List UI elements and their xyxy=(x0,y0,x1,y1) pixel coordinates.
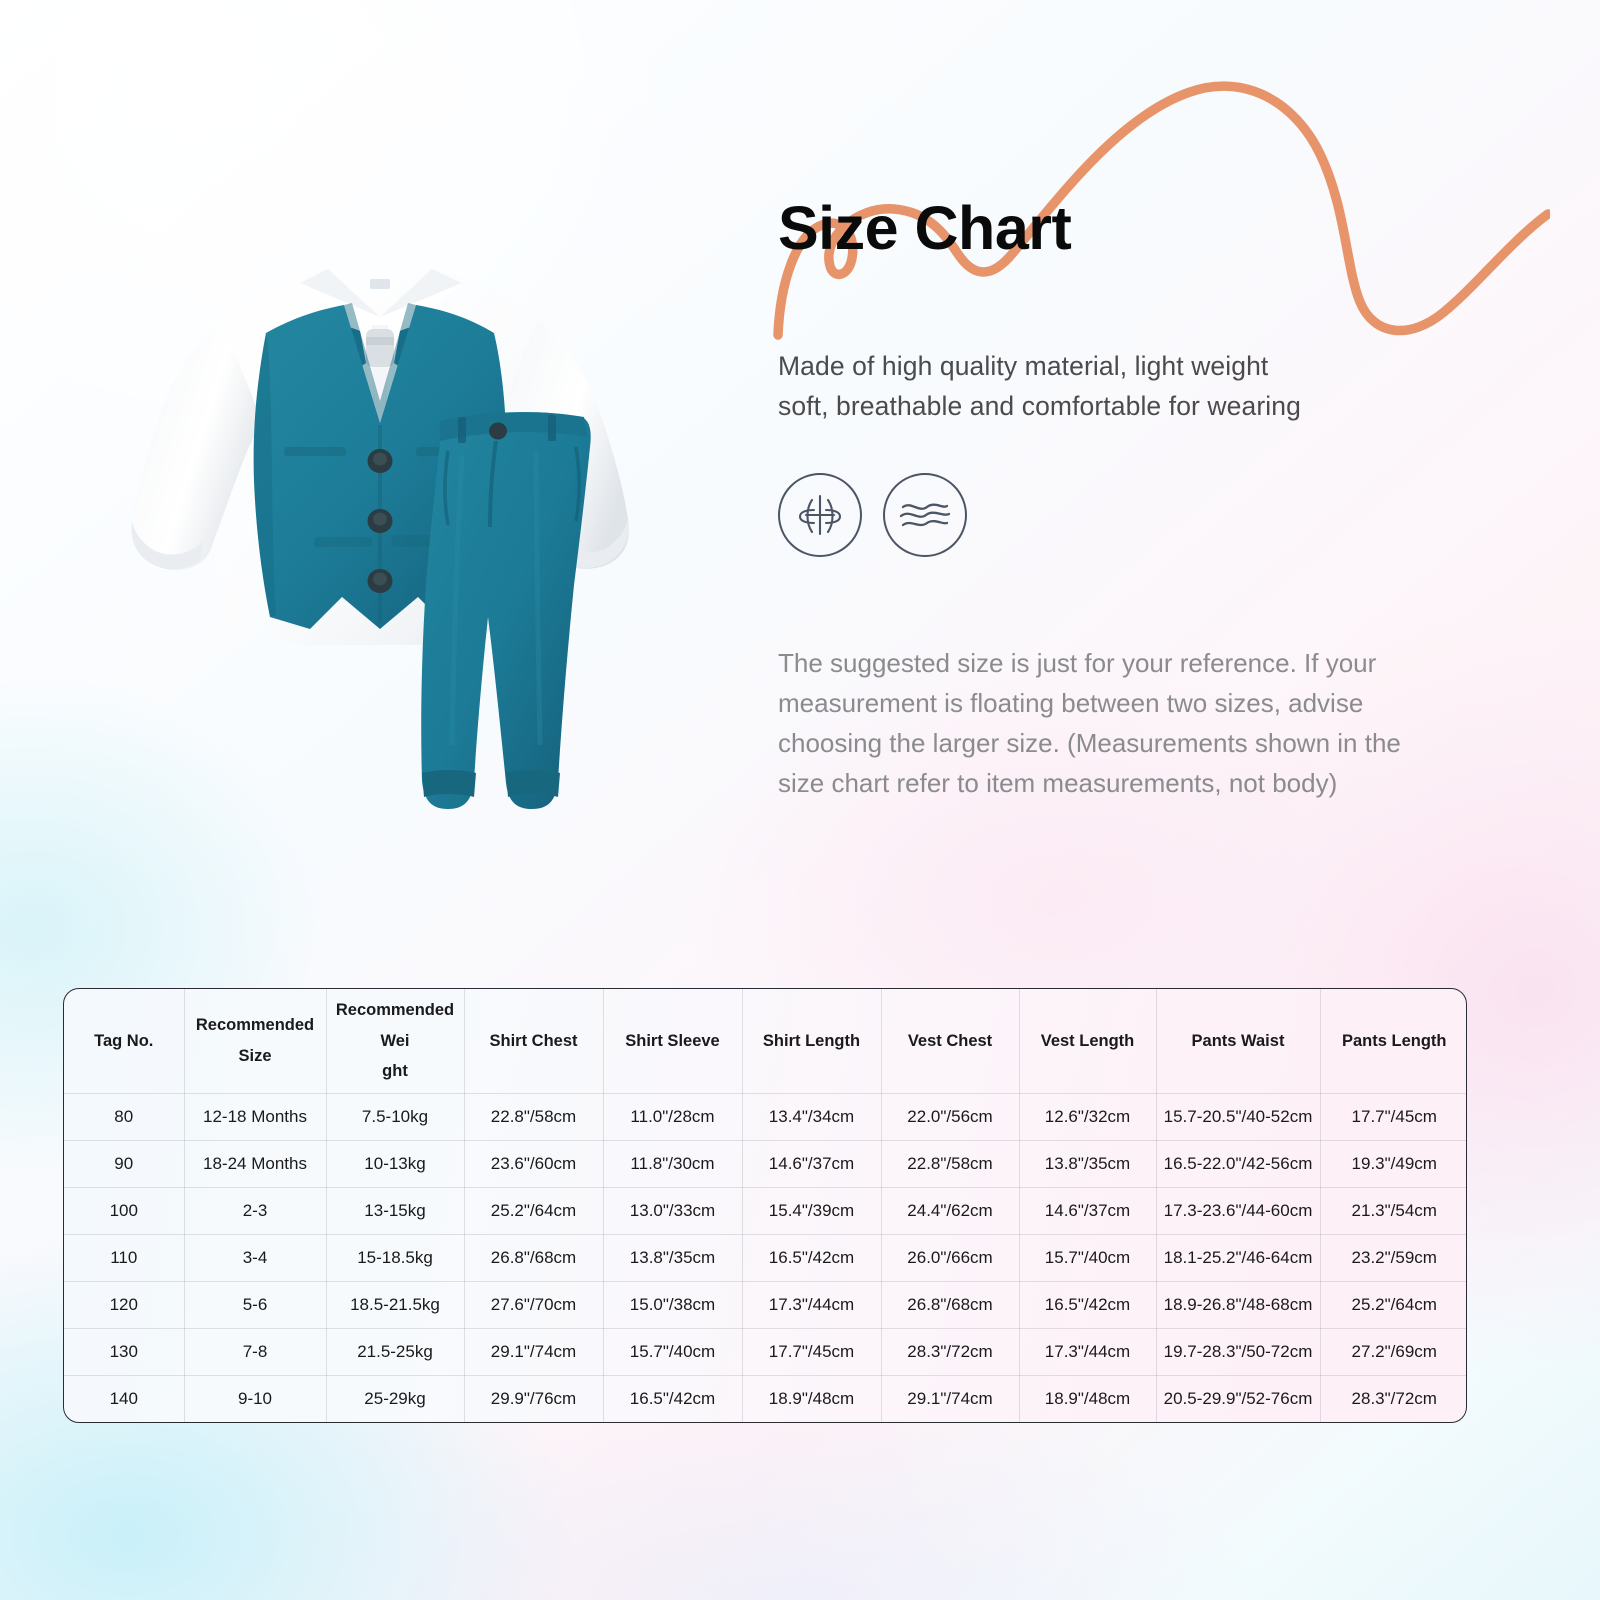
note-line-2: measurement is floating between two size… xyxy=(778,683,1486,723)
column-header-3: Shirt Chest xyxy=(464,989,603,1093)
cell-r2-c9: 21.3"/54cm xyxy=(1320,1187,1467,1234)
cell-r1-c2: 10-13kg xyxy=(326,1140,464,1187)
cell-r4-c4: 15.0"/38cm xyxy=(603,1281,742,1328)
column-header-6: Vest Chest xyxy=(881,989,1019,1093)
cell-r4-c6: 26.8"/68cm xyxy=(881,1281,1019,1328)
cell-r1-c0: 90 xyxy=(64,1140,184,1187)
cell-r5-c5: 17.7"/45cm xyxy=(742,1328,881,1375)
note-line-4: size chart refer to item measurements, n… xyxy=(778,763,1486,803)
cell-r5-c6: 28.3"/72cm xyxy=(881,1328,1019,1375)
cell-r2-c4: 13.0"/33cm xyxy=(603,1187,742,1234)
cell-r4-c0: 120 xyxy=(64,1281,184,1328)
cell-r2-c1: 2-3 xyxy=(184,1187,326,1234)
column-header-4: Shirt Sleeve xyxy=(603,989,742,1093)
product-subtitle: Made of high quality material, light wei… xyxy=(778,346,1508,427)
cell-r2-c6: 24.4"/62cm xyxy=(881,1187,1019,1234)
cell-r0-c9: 17.7"/45cm xyxy=(1320,1093,1467,1140)
feature-badge-row xyxy=(778,473,1508,557)
size-chart-table: Tag No.Recommended SizeRecommended Weigh… xyxy=(64,989,1467,1422)
cell-r3-c5: 16.5"/42cm xyxy=(742,1234,881,1281)
column-header-5: Shirt Length xyxy=(742,989,881,1093)
cell-r3-c2: 15-18.5kg xyxy=(326,1234,464,1281)
cell-r2-c8: 17.3-23.6"/44-60cm xyxy=(1156,1187,1320,1234)
cell-r5-c1: 7-8 xyxy=(184,1328,326,1375)
cell-r1-c4: 11.8"/30cm xyxy=(603,1140,742,1187)
cell-r6-c2: 25-29kg xyxy=(326,1375,464,1422)
subtitle-line-2: soft, breathable and comfortable for wea… xyxy=(778,386,1508,426)
cell-r4-c3: 27.6"/70cm xyxy=(464,1281,603,1328)
page-title: Size Chart xyxy=(778,196,1508,260)
cell-r1-c5: 14.6"/37cm xyxy=(742,1140,881,1187)
cell-r4-c5: 17.3"/44cm xyxy=(742,1281,881,1328)
column-header-1: Recommended Size xyxy=(184,989,326,1093)
soft-material-badge xyxy=(778,473,862,557)
cell-r5-c4: 15.7"/40cm xyxy=(603,1328,742,1375)
cell-r0-c6: 22.0"/56cm xyxy=(881,1093,1019,1140)
cell-r6-c6: 29.1"/74cm xyxy=(881,1375,1019,1422)
table-row: 8012-18 Months7.5-10kg22.8"/58cm11.0"/28… xyxy=(64,1093,1467,1140)
cell-r3-c8: 18.1-25.2"/46-64cm xyxy=(1156,1234,1320,1281)
cell-r2-c2: 13-15kg xyxy=(326,1187,464,1234)
cell-r1-c8: 16.5-22.0"/42-56cm xyxy=(1156,1140,1320,1187)
cell-r0-c1: 12-18 Months xyxy=(184,1093,326,1140)
column-header-9: Pants Length xyxy=(1320,989,1467,1093)
cell-r2-c7: 14.6"/37cm xyxy=(1019,1187,1156,1234)
column-header-7: Vest Length xyxy=(1019,989,1156,1093)
note-line-1: The suggested size is just for your refe… xyxy=(778,643,1486,683)
cell-r4-c1: 5-6 xyxy=(184,1281,326,1328)
cell-r4-c7: 16.5"/42cm xyxy=(1019,1281,1156,1328)
cell-r3-c6: 26.0"/66cm xyxy=(881,1234,1019,1281)
cell-r0-c2: 7.5-10kg xyxy=(326,1093,464,1140)
cell-r3-c3: 26.8"/68cm xyxy=(464,1234,603,1281)
breathable-waves-icon xyxy=(897,495,953,535)
table-row: 1205-618.5-21.5kg27.6"/70cm15.0"/38cm17.… xyxy=(64,1281,1467,1328)
cell-r5-c2: 21.5-25kg xyxy=(326,1328,464,1375)
cell-r4-c8: 18.9-26.8"/48-68cm xyxy=(1156,1281,1320,1328)
cell-r5-c3: 29.1"/74cm xyxy=(464,1328,603,1375)
cell-r0-c4: 11.0"/28cm xyxy=(603,1093,742,1140)
table-row: 1103-415-18.5kg26.8"/68cm13.8"/35cm16.5"… xyxy=(64,1234,1467,1281)
breathable-badge xyxy=(883,473,967,557)
cell-r0-c0: 80 xyxy=(64,1093,184,1140)
cell-r1-c3: 23.6"/60cm xyxy=(464,1140,603,1187)
table-row: 1409-1025-29kg29.9"/76cm16.5"/42cm18.9"/… xyxy=(64,1375,1467,1422)
table-row: 1002-313-15kg25.2"/64cm13.0"/33cm15.4"/3… xyxy=(64,1187,1467,1234)
cell-r3-c1: 3-4 xyxy=(184,1234,326,1281)
cell-r1-c7: 13.8"/35cm xyxy=(1019,1140,1156,1187)
table-row: 1307-821.5-25kg29.1"/74cm15.7"/40cm17.7"… xyxy=(64,1328,1467,1375)
cell-r5-c7: 17.3"/44cm xyxy=(1019,1328,1156,1375)
cell-r6-c1: 9-10 xyxy=(184,1375,326,1422)
cell-r4-c9: 25.2"/64cm xyxy=(1320,1281,1467,1328)
cell-r6-c7: 18.9"/48cm xyxy=(1019,1375,1156,1422)
cell-r1-c9: 19.3"/49cm xyxy=(1320,1140,1467,1187)
teal-pants xyxy=(421,412,591,809)
table-row: 9018-24 Months10-13kg23.6"/60cm11.8"/30c… xyxy=(64,1140,1467,1187)
cell-r3-c4: 13.8"/35cm xyxy=(603,1234,742,1281)
product-image-boys-suit-set xyxy=(70,225,690,865)
cell-r0-c7: 12.6"/32cm xyxy=(1019,1093,1156,1140)
cell-r6-c0: 140 xyxy=(64,1375,184,1422)
cell-r4-c2: 18.5-21.5kg xyxy=(326,1281,464,1328)
size-chart-table-container: Tag No.Recommended SizeRecommended Weigh… xyxy=(63,988,1467,1423)
column-header-2: Recommended Weight xyxy=(326,989,464,1093)
cell-r0-c8: 15.7-20.5"/40-52cm xyxy=(1156,1093,1320,1140)
cell-r5-c9: 27.2"/69cm xyxy=(1320,1328,1467,1375)
cell-r6-c9: 28.3"/72cm xyxy=(1320,1375,1467,1422)
cell-r0-c5: 13.4"/34cm xyxy=(742,1093,881,1140)
cell-r3-c7: 15.7"/40cm xyxy=(1019,1234,1156,1281)
cell-r6-c3: 29.9"/76cm xyxy=(464,1375,603,1422)
table-header-row: Tag No.Recommended SizeRecommended Weigh… xyxy=(64,989,1467,1093)
cell-r3-c9: 23.2"/59cm xyxy=(1320,1234,1467,1281)
cell-r1-c6: 22.8"/58cm xyxy=(881,1140,1019,1187)
cell-r2-c3: 25.2"/64cm xyxy=(464,1187,603,1234)
content-column: Size Chart Made of high quality material… xyxy=(778,196,1508,804)
cell-r0-c3: 22.8"/58cm xyxy=(464,1093,603,1140)
cell-r5-c8: 19.7-28.3"/50-72cm xyxy=(1156,1328,1320,1375)
cell-r6-c8: 20.5-29.9"/52-76cm xyxy=(1156,1375,1320,1422)
cell-r1-c1: 18-24 Months xyxy=(184,1140,326,1187)
cell-r2-c5: 15.4"/39cm xyxy=(742,1187,881,1234)
column-header-8: Pants Waist xyxy=(1156,989,1320,1093)
column-header-0: Tag No. xyxy=(64,989,184,1093)
subtitle-line-1: Made of high quality material, light wei… xyxy=(778,346,1508,386)
cell-r2-c0: 100 xyxy=(64,1187,184,1234)
cell-r6-c5: 18.9"/48cm xyxy=(742,1375,881,1422)
cell-r3-c0: 110 xyxy=(64,1234,184,1281)
cell-r6-c4: 16.5"/42cm xyxy=(603,1375,742,1422)
cotton-fabric-icon xyxy=(794,491,846,539)
sizing-note: The suggested size is just for your refe… xyxy=(778,643,1486,804)
note-line-3: choosing the larger size. (Measurements … xyxy=(778,723,1486,763)
cell-r5-c0: 130 xyxy=(64,1328,184,1375)
